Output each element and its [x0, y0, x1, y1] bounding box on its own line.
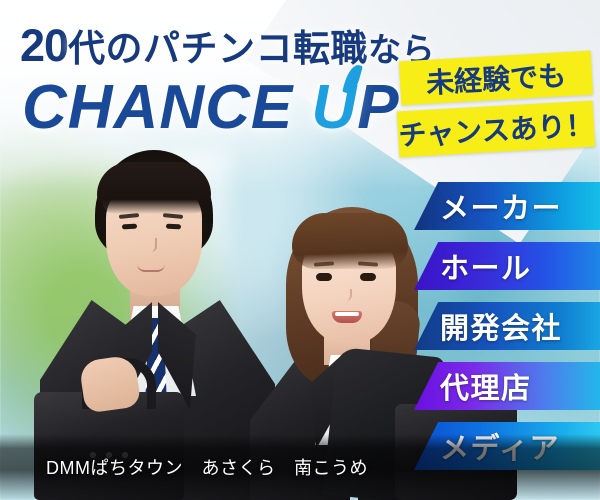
- caption-bar: DMMぱちタウン あさくら 南こうめ: [0, 434, 600, 500]
- man-eye-right: [166, 224, 181, 230]
- woman-mouth: [332, 311, 362, 323]
- advertisement-banner[interactable]: 20代のパチンコ転職なら CHANCE UP 未経験でも チャンスあり！ メーカ…: [0, 0, 600, 500]
- category-button-hall[interactable]: ホール: [414, 242, 600, 290]
- category-label-agency: 代理店: [414, 365, 600, 407]
- logo-letter-u: U: [311, 72, 357, 143]
- woman-eye-right: [360, 273, 376, 281]
- logo-letter-p: P: [357, 73, 399, 142]
- category-button-maker[interactable]: メーカー: [414, 182, 600, 230]
- caption-text: DMMぱちタウン あさくら 南こうめ: [0, 454, 368, 480]
- category-button-agency[interactable]: 代理店: [414, 362, 600, 410]
- man-fringe: [97, 162, 211, 214]
- page-title: 20代のパチンコ転職なら: [20, 18, 435, 72]
- man-nose: [147, 238, 157, 252]
- man-mouth: [137, 264, 165, 272]
- headline-main: 代のパチンコ転職: [68, 28, 368, 69]
- badge-label-1: 未経験でも: [425, 54, 567, 102]
- headline-number: 20: [20, 20, 68, 71]
- logo-word-chance: CHANCE: [22, 73, 293, 142]
- category-button-development[interactable]: 開発会社: [414, 302, 600, 350]
- woman-eye-left: [316, 273, 332, 281]
- logo-chance-up: CHANCE UP: [22, 72, 400, 143]
- badge-label-2: チャンスあり！: [397, 104, 594, 155]
- woman-fringe: [292, 213, 408, 269]
- man-eye-left: [122, 224, 137, 230]
- category-label-hall: ホール: [414, 245, 600, 287]
- category-label-development: 開発会社: [414, 305, 600, 347]
- category-label-maker: メーカー: [414, 185, 600, 227]
